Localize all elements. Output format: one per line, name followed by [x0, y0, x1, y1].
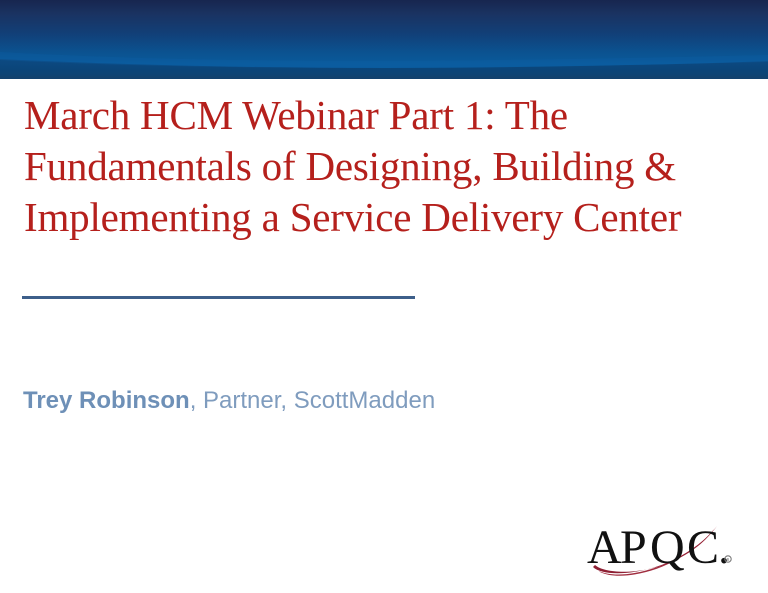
apqc-letter-p: P: [620, 521, 647, 574]
presenter-name: Trey Robinson: [23, 387, 190, 414]
apqc-period: .: [718, 521, 730, 574]
apqc-logo-graphic: A P Q C . R: [585, 515, 735, 577]
apqc-letter-a: A: [587, 521, 622, 574]
apqc-letter-c: C: [687, 521, 719, 574]
apqc-letter-q: Q: [650, 521, 685, 574]
page-title: March HCM Webinar Part 1: The Fundamenta…: [24, 90, 724, 243]
header-banner-graphic: [0, 0, 768, 79]
apqc-wordmark: A P Q C .: [587, 521, 730, 574]
apqc-logo: A P Q C . R: [585, 515, 735, 577]
title-block: March HCM Webinar Part 1: The Fundamenta…: [24, 90, 724, 243]
presenter-line: Trey Robinson, Partner, ScottMadden: [23, 386, 435, 416]
title-divider: [22, 296, 415, 299]
presenter-role: , Partner, ScottMadden: [190, 387, 435, 414]
presentation-slide: March HCM Webinar Part 1: The Fundamenta…: [0, 0, 768, 593]
registered-trademark-letter: R: [727, 557, 730, 562]
header-banner: [0, 0, 768, 79]
